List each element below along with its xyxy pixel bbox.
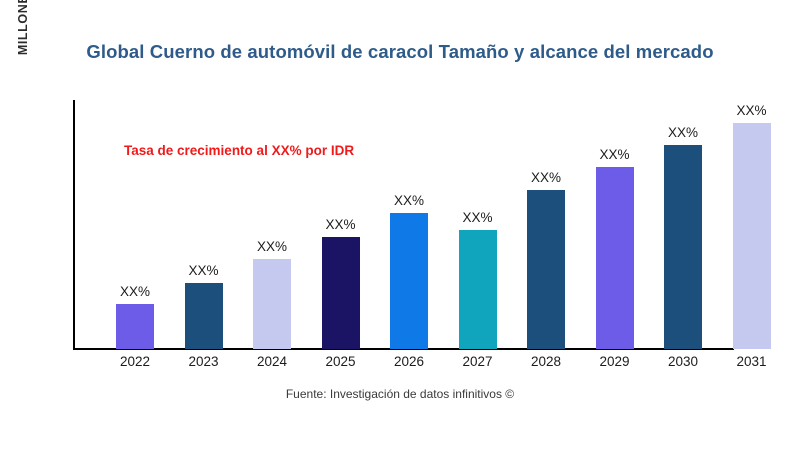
bar-value-label-2023: XX% bbox=[170, 263, 238, 278]
plot-area: XX%XX%XX%XX%XX%XX%XX%XX%XX%XX% bbox=[74, 90, 786, 349]
source-note: Fuente: Investigación de datos infinitiv… bbox=[0, 387, 800, 401]
bar-2031[interactable] bbox=[733, 123, 771, 349]
bar-group-2026[interactable]: XX% bbox=[375, 90, 443, 349]
bar-value-label-2024: XX% bbox=[238, 239, 306, 254]
bar-2024[interactable] bbox=[253, 259, 291, 349]
bar-value-label-2025: XX% bbox=[307, 217, 375, 232]
x-tick-2028: 2028 bbox=[512, 354, 580, 369]
bar-value-label-2030: XX% bbox=[649, 125, 717, 140]
bar-2023[interactable] bbox=[185, 283, 223, 349]
bar-value-label-2026: XX% bbox=[375, 193, 443, 208]
bar-value-label-2027: XX% bbox=[444, 210, 512, 225]
bar-group-2024[interactable]: XX% bbox=[238, 90, 306, 349]
bar-2022[interactable] bbox=[116, 304, 154, 349]
bar-group-2025[interactable]: XX% bbox=[307, 90, 375, 349]
y-axis-title-label: MILLONES DE USD bbox=[16, 0, 30, 118]
x-tick-2026: 2026 bbox=[375, 354, 443, 369]
y-axis-title: MILLONES DE USD bbox=[16, 0, 34, 118]
x-tick-2027: 2027 bbox=[444, 354, 512, 369]
bar-value-label-2022: XX% bbox=[101, 284, 169, 299]
x-tick-2031: 2031 bbox=[718, 354, 786, 369]
x-axis-tick-labels: 2022202320242025202620272028202920302031 bbox=[74, 354, 786, 376]
bar-group-2029[interactable]: XX% bbox=[581, 90, 649, 349]
bar-group-2031[interactable]: XX% bbox=[718, 90, 786, 349]
bar-group-2022[interactable]: XX% bbox=[101, 90, 169, 349]
bar-2025[interactable] bbox=[322, 237, 360, 349]
x-tick-2025: 2025 bbox=[307, 354, 375, 369]
bar-group-2030[interactable]: XX% bbox=[649, 90, 717, 349]
x-tick-2030: 2030 bbox=[649, 354, 717, 369]
bar-value-label-2031: XX% bbox=[718, 103, 786, 118]
x-tick-2024: 2024 bbox=[238, 354, 306, 369]
market-size-bar-chart: Global Cuerno de automóvil de caracol Ta… bbox=[0, 0, 800, 450]
growth-rate-annotation: Tasa de crecimiento al XX% por IDR bbox=[124, 143, 354, 158]
x-tick-2029: 2029 bbox=[581, 354, 649, 369]
x-tick-2022: 2022 bbox=[101, 354, 169, 369]
x-tick-2023: 2023 bbox=[170, 354, 238, 369]
bar-value-label-2029: XX% bbox=[581, 147, 649, 162]
bar-group-2027[interactable]: XX% bbox=[444, 90, 512, 349]
bar-group-2023[interactable]: XX% bbox=[170, 90, 238, 349]
bar-value-label-2028: XX% bbox=[512, 170, 580, 185]
bar-group-2028[interactable]: XX% bbox=[512, 90, 580, 349]
chart-title: Global Cuerno de automóvil de caracol Ta… bbox=[0, 41, 800, 63]
bar-2027[interactable] bbox=[459, 230, 497, 349]
bar-2028[interactable] bbox=[527, 190, 565, 349]
bar-2030[interactable] bbox=[664, 145, 702, 349]
bar-2026[interactable] bbox=[390, 213, 428, 349]
bar-2029[interactable] bbox=[596, 167, 634, 349]
